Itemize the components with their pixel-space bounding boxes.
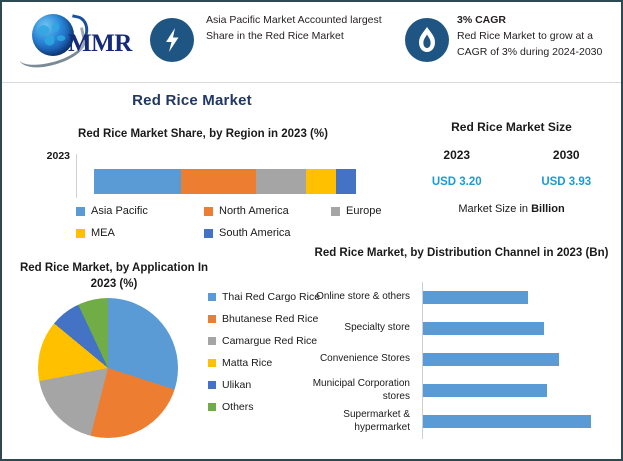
application-pie (38, 298, 178, 438)
distribution-bar (423, 322, 544, 335)
cagr-headline: 3% CAGR (457, 12, 621, 28)
region-legend-item: North America (204, 200, 331, 222)
distribution-bar (423, 353, 559, 366)
region-segment-south-america (336, 169, 356, 194)
region-axis (76, 154, 77, 198)
brand-logo: MMR (16, 10, 144, 72)
legend-swatch-icon (76, 229, 85, 238)
region-legend-label: North America (219, 205, 289, 217)
distribution-row: Municipal Corporation stores (312, 375, 617, 406)
region-legend-label: Europe (346, 205, 381, 217)
application-share-chart: Red Rice Market, by Application In 2023 … (16, 260, 326, 455)
distribution-bar (423, 384, 547, 397)
legend-swatch-icon (208, 337, 216, 345)
header-highlight-cagr: 3% CAGR Red Rice Market to grow at a CAG… (405, 12, 621, 74)
distribution-category-label: Convenience Stores (312, 353, 416, 366)
market-size-footnote: Market Size in Billion (402, 203, 621, 215)
region-chart-title: Red Rice Market Share, by Region in 2023… (20, 128, 386, 140)
application-chart-title: Red Rice Market, by Application In 2023 … (16, 260, 212, 292)
infographic-root: MMR Asia Pacific Market Accounted larges… (0, 0, 623, 461)
distribution-chart-title: Red Rice Market, by Distribution Channel… (302, 246, 621, 261)
legend-swatch-icon (208, 381, 216, 389)
distribution-channel-chart: Red Rice Market, by Distribution Channel… (302, 246, 621, 458)
distribution-row: Supermarket & hypermarket (312, 406, 617, 437)
market-size-years: 2023 2030 (402, 148, 621, 162)
distribution-category-label: Municipal Corporation stores (312, 378, 416, 403)
legend-swatch-icon (208, 359, 216, 367)
region-stacked-bar (94, 169, 356, 194)
region-segment-mea (306, 169, 336, 194)
legend-swatch-icon (208, 403, 216, 411)
header-highlight-asia-pacific: Asia Pacific Market Accounted largest Sh… (150, 12, 395, 74)
region-legend-label: South America (219, 227, 291, 239)
flame-icon (405, 18, 449, 62)
cagr-description: Red Rice Market to grow at a CAGR of 3% … (457, 30, 602, 58)
market-size-year-end: 2030 (512, 148, 622, 162)
region-legend-item: South America (204, 222, 331, 244)
region-segment-north-america (181, 169, 256, 194)
legend-swatch-icon (76, 207, 85, 216)
header-highlight-text: 3% CAGR Red Rice Market to grow at a CAG… (457, 12, 621, 60)
legend-swatch-icon (204, 229, 213, 238)
market-size-value-start: USD 3.20 (402, 176, 512, 188)
distribution-category-label: Supermarket & hypermarket (312, 409, 416, 434)
application-legend-label: Ulikan (222, 379, 251, 391)
header-divider (2, 82, 621, 83)
region-legend-item: Europe (331, 200, 396, 222)
distribution-row: Online store & others (312, 282, 617, 313)
market-size-unit: Billion (531, 203, 565, 215)
legend-swatch-icon (208, 293, 216, 301)
distribution-row: Convenience Stores (312, 344, 617, 375)
application-legend-label: Matta Rice (222, 357, 272, 369)
application-legend-label: Others (222, 401, 254, 413)
distribution-category-label: Specialty store (312, 322, 416, 335)
region-legend: Asia PacificNorth AmericaEuropeMEASouth … (76, 200, 396, 244)
market-size-year-start: 2023 (402, 148, 512, 162)
legend-swatch-icon (204, 207, 213, 216)
brand-name: MMR (68, 30, 132, 58)
region-segment-europe (256, 169, 306, 194)
region-segment-asia-pacific (94, 169, 181, 194)
region-legend-label: MEA (91, 227, 115, 239)
distribution-row: Specialty store (312, 313, 617, 344)
lightning-bolt-icon (150, 18, 194, 62)
market-size-title: Red Rice Market Size (402, 120, 621, 134)
region-category-label: 2023 (26, 150, 70, 162)
legend-swatch-icon (331, 207, 340, 216)
header: MMR Asia Pacific Market Accounted larges… (2, 2, 621, 82)
market-size-panel: Red Rice Market Size 2023 2030 USD 3.20 … (402, 120, 621, 230)
market-size-values: USD 3.20 USD 3.93 (402, 176, 621, 188)
region-plot-area (76, 154, 376, 198)
distribution-bar (423, 415, 591, 428)
page-title: Red Rice Market (2, 92, 382, 109)
region-legend-label: Asia Pacific (91, 205, 148, 217)
region-legend-item: Asia Pacific (76, 200, 204, 222)
market-size-value-end: USD 3.93 (512, 176, 622, 188)
distribution-plot-area: Online store & othersSpecialty storeConv… (312, 282, 617, 442)
header-highlight-text: Asia Pacific Market Accounted largest Sh… (206, 12, 395, 44)
region-legend-item: MEA (76, 222, 204, 244)
legend-swatch-icon (208, 315, 216, 323)
distribution-bar (423, 291, 528, 304)
region-share-chart: Red Rice Market Share, by Region in 2023… (20, 128, 398, 258)
distribution-category-label: Online store & others (312, 291, 416, 304)
market-size-footnote-prefix: Market Size in (458, 203, 531, 215)
